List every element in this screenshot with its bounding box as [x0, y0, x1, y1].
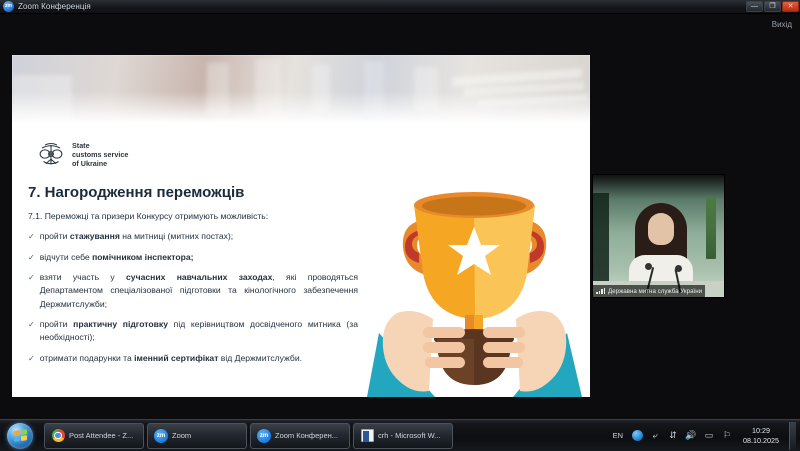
participant-name-label: Державна митна служба України	[608, 288, 702, 295]
slide-bullet-1: ✓пройти стажування на митниці (митних по…	[28, 230, 358, 243]
flag-icon[interactable]: ⚐	[721, 430, 733, 442]
slide-bullet-text: відчути себе помічником інспектора;	[40, 251, 358, 264]
slide-bullet-text: взяти участь у сучасних навчальних заход…	[40, 271, 358, 311]
windows-start-orb-icon	[7, 423, 33, 449]
taskbar-buttons: Post Attendee - Z...zmZoomzmZoom Конфере…	[40, 423, 610, 449]
trophy-held-in-hands-illustration	[367, 187, 582, 397]
windows-logo-icon	[14, 429, 27, 442]
ukraine-customs-emblem-icon	[36, 139, 66, 169]
language-indicator[interactable]: EN	[610, 431, 626, 440]
slide-header-photo-blur-shapes	[12, 55, 590, 125]
zoom-meeting-stage: Вихід	[0, 14, 800, 419]
clock[interactable]: 10:29 08.10.2025	[739, 426, 783, 446]
taskbar-item-label: Zoom	[172, 431, 191, 440]
window-title: Zoom Конференція	[18, 2, 91, 11]
windows-taskbar: Post Attendee - Z...zmZoomzmZoom Конфере…	[0, 419, 800, 451]
signal-bars-icon	[596, 288, 605, 294]
taskbar-item-label: Post Attendee - Z...	[69, 431, 133, 440]
exit-button[interactable]: Вихід	[772, 20, 792, 29]
slide-bullet-5: ✓ отримати подарунки та іменний сертифік…	[28, 352, 358, 365]
shared-screen-slide[interactable]: State customs service of Ukraine 7. Наго…	[12, 55, 590, 397]
video-flag	[706, 197, 716, 259]
participant-name-badge: Державна митна служба України	[593, 285, 705, 297]
checkmark-icon: ✓	[28, 271, 35, 284]
close-button[interactable]: ✕	[782, 1, 799, 12]
taskbar-item-2[interactable]: zmZoom	[147, 423, 247, 449]
word-icon	[360, 429, 374, 443]
participant-video-tile[interactable]: Державна митна служба України	[592, 174, 725, 298]
share-icon[interactable]: ⤶	[649, 430, 661, 442]
slide-bullet-2: ✓відчути себе помічником інспектора;	[28, 251, 358, 264]
slide-intro-paragraph: 7.1. Переможці та призери Конкурсу отрим…	[28, 210, 358, 223]
monitor-icon[interactable]: ▭	[703, 430, 715, 442]
participant-face	[648, 213, 674, 245]
slide-bullet-3: ✓взяти участь у сучасних навчальних захо…	[28, 271, 358, 311]
blue-circle-icon[interactable]	[632, 430, 643, 441]
slide-bullet-4: ✓пройти практичну підготовку під керівни…	[28, 318, 358, 345]
slide-bullet-list: ✓пройти стажування на митниці (митних по…	[28, 230, 358, 365]
slide-body: 7.1. Переможці та призери Конкурсу отрим…	[28, 210, 358, 372]
volume-icon[interactable]: 🔊	[685, 430, 697, 442]
system-tray: EN ⤶ ⇵ 🔊 ▭ ⚐ 10:29 08.10.2025	[610, 421, 800, 451]
logo-line-1: State	[72, 141, 128, 150]
zoom-icon: zm	[154, 429, 168, 443]
slide-bullet-text: пройти стажування на митниці (митних пос…	[40, 230, 358, 243]
checkmark-icon: ✓	[28, 230, 35, 243]
checkmark-icon: ✓	[28, 318, 35, 331]
slide-bullet-text: пройти практичну підготовку під керівниц…	[40, 318, 358, 345]
show-desktop-button[interactable]	[789, 422, 796, 450]
minimize-button[interactable]: —	[746, 1, 763, 12]
microphone-head-left	[645, 263, 652, 270]
maximize-button[interactable]: ❐	[764, 1, 781, 12]
logo-line-3: of Ukraine	[72, 159, 128, 168]
zoom-icon: zm	[3, 1, 14, 12]
slide-bullet-text: отримати подарунки та іменний сертифікат…	[40, 352, 358, 365]
screen: zm Zoom Конференція — ❐ ✕ Вихід	[0, 0, 800, 451]
logo-line-2: customs service	[72, 150, 128, 159]
checkmark-icon: ✓	[28, 352, 35, 365]
zoom-icon: zm	[257, 429, 271, 443]
titlebar-left: zm Zoom Конференція	[0, 1, 91, 12]
taskbar-item-label: Zoom Конферен...	[275, 431, 338, 440]
microphone-head-right	[675, 265, 682, 272]
window-controls: — ❐ ✕	[746, 1, 799, 12]
checkmark-icon: ✓	[28, 251, 35, 264]
chrome-icon	[51, 429, 65, 443]
start-button[interactable]	[0, 421, 40, 451]
taskbar-item-1[interactable]: Post Attendee - Z...	[44, 423, 144, 449]
customs-logo: State customs service of Ukraine	[36, 139, 128, 169]
clock-date: 08.10.2025	[743, 436, 779, 446]
taskbar-item-3[interactable]: zmZoom Конферен...	[250, 423, 350, 449]
slide-title: 7. Нагородження переможців	[28, 184, 244, 201]
customs-logo-text: State customs service of Ukraine	[72, 141, 128, 168]
network-icon[interactable]: ⇵	[667, 430, 679, 442]
taskbar-item-4[interactable]: сrh - Microsoft W...	[353, 423, 453, 449]
window-titlebar: zm Zoom Конференція — ❐ ✕	[0, 0, 800, 14]
clock-time: 10:29	[743, 426, 779, 436]
taskbar-item-label: сrh - Microsoft W...	[378, 431, 441, 440]
